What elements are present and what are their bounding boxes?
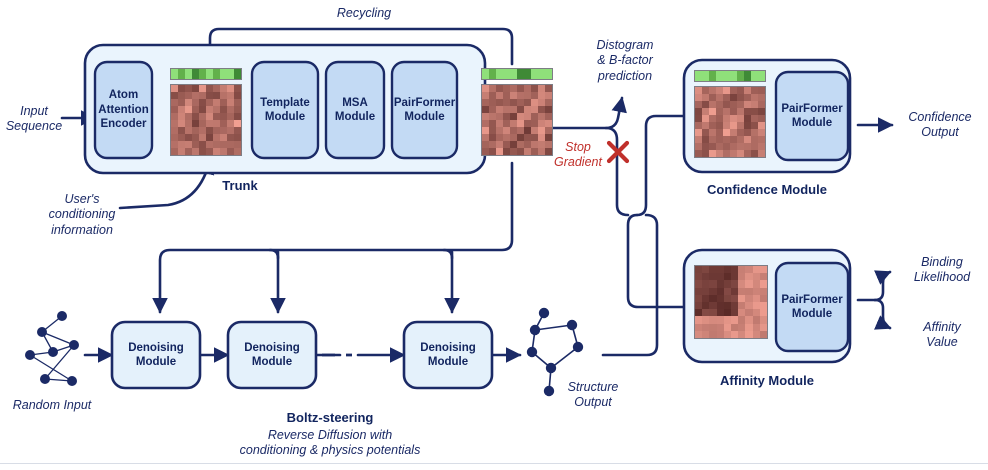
arrow-binding-likelihood [875, 272, 890, 300]
label-user-conditioning: User's conditioning information [40, 192, 124, 238]
line-cond-branch-2 [270, 250, 278, 258]
confidence-greenbar [694, 70, 766, 82]
arrow-distogram-prediction [551, 98, 622, 128]
trunk-input-heatmap [170, 84, 242, 156]
label-trunk: Trunk [200, 178, 280, 194]
label-distogram-prediction: Distogram & B-factor prediction [578, 38, 672, 84]
label-affinity-module: Affinity Module [687, 373, 847, 389]
trunk-output-heatmap [481, 84, 553, 156]
line-structure-to-merge [603, 215, 657, 355]
module-box-pairformer-module[interactable] [392, 62, 457, 158]
module-box-confidence-pairformer[interactable] [776, 72, 848, 160]
module-box-denoising-module-3[interactable] [404, 322, 492, 388]
label-confidence-output: Confidence Output [898, 110, 982, 141]
label-stop-gradient: Stop Gradient [549, 140, 607, 171]
arrow-affinity-value [875, 300, 890, 328]
trunk-input-greenbar [170, 68, 242, 80]
random-graph-nodes [25, 311, 79, 386]
label-boltz-steering: Boltz-steering [230, 410, 430, 426]
module-box-msa-module[interactable] [326, 62, 384, 158]
module-box-denoising-module-1[interactable] [112, 322, 200, 388]
label-structure-output: Structure Output [552, 380, 634, 411]
label-confidence-module: Confidence Module [687, 182, 847, 198]
label-affinity-value: Affinity Value [900, 320, 984, 351]
module-box-affinity-pairformer[interactable] [776, 263, 848, 351]
module-box-denoising-module-2[interactable] [228, 322, 316, 388]
affinity-heatmap [694, 265, 768, 339]
label-input-sequence: Input Sequence [4, 104, 64, 135]
line-cond-branch-3 [444, 250, 452, 258]
footer-divider [0, 463, 988, 464]
label-boltz-steering-subtitle: Reverse Diffusion with conditioning & ph… [205, 428, 455, 459]
confidence-heatmap [694, 86, 766, 158]
label-binding-likelihood: Binding Likelihood [900, 255, 984, 286]
label-random-input: Random Input [2, 398, 102, 413]
label-recycling: Recycling [314, 6, 414, 21]
architecture-diagram: Atom Attention Encoder Template Module M… [0, 0, 988, 470]
module-box-template-module[interactable] [252, 62, 318, 158]
module-box-atom-attention-encoder[interactable] [95, 62, 152, 158]
trunk-output-greenbar [481, 68, 553, 80]
